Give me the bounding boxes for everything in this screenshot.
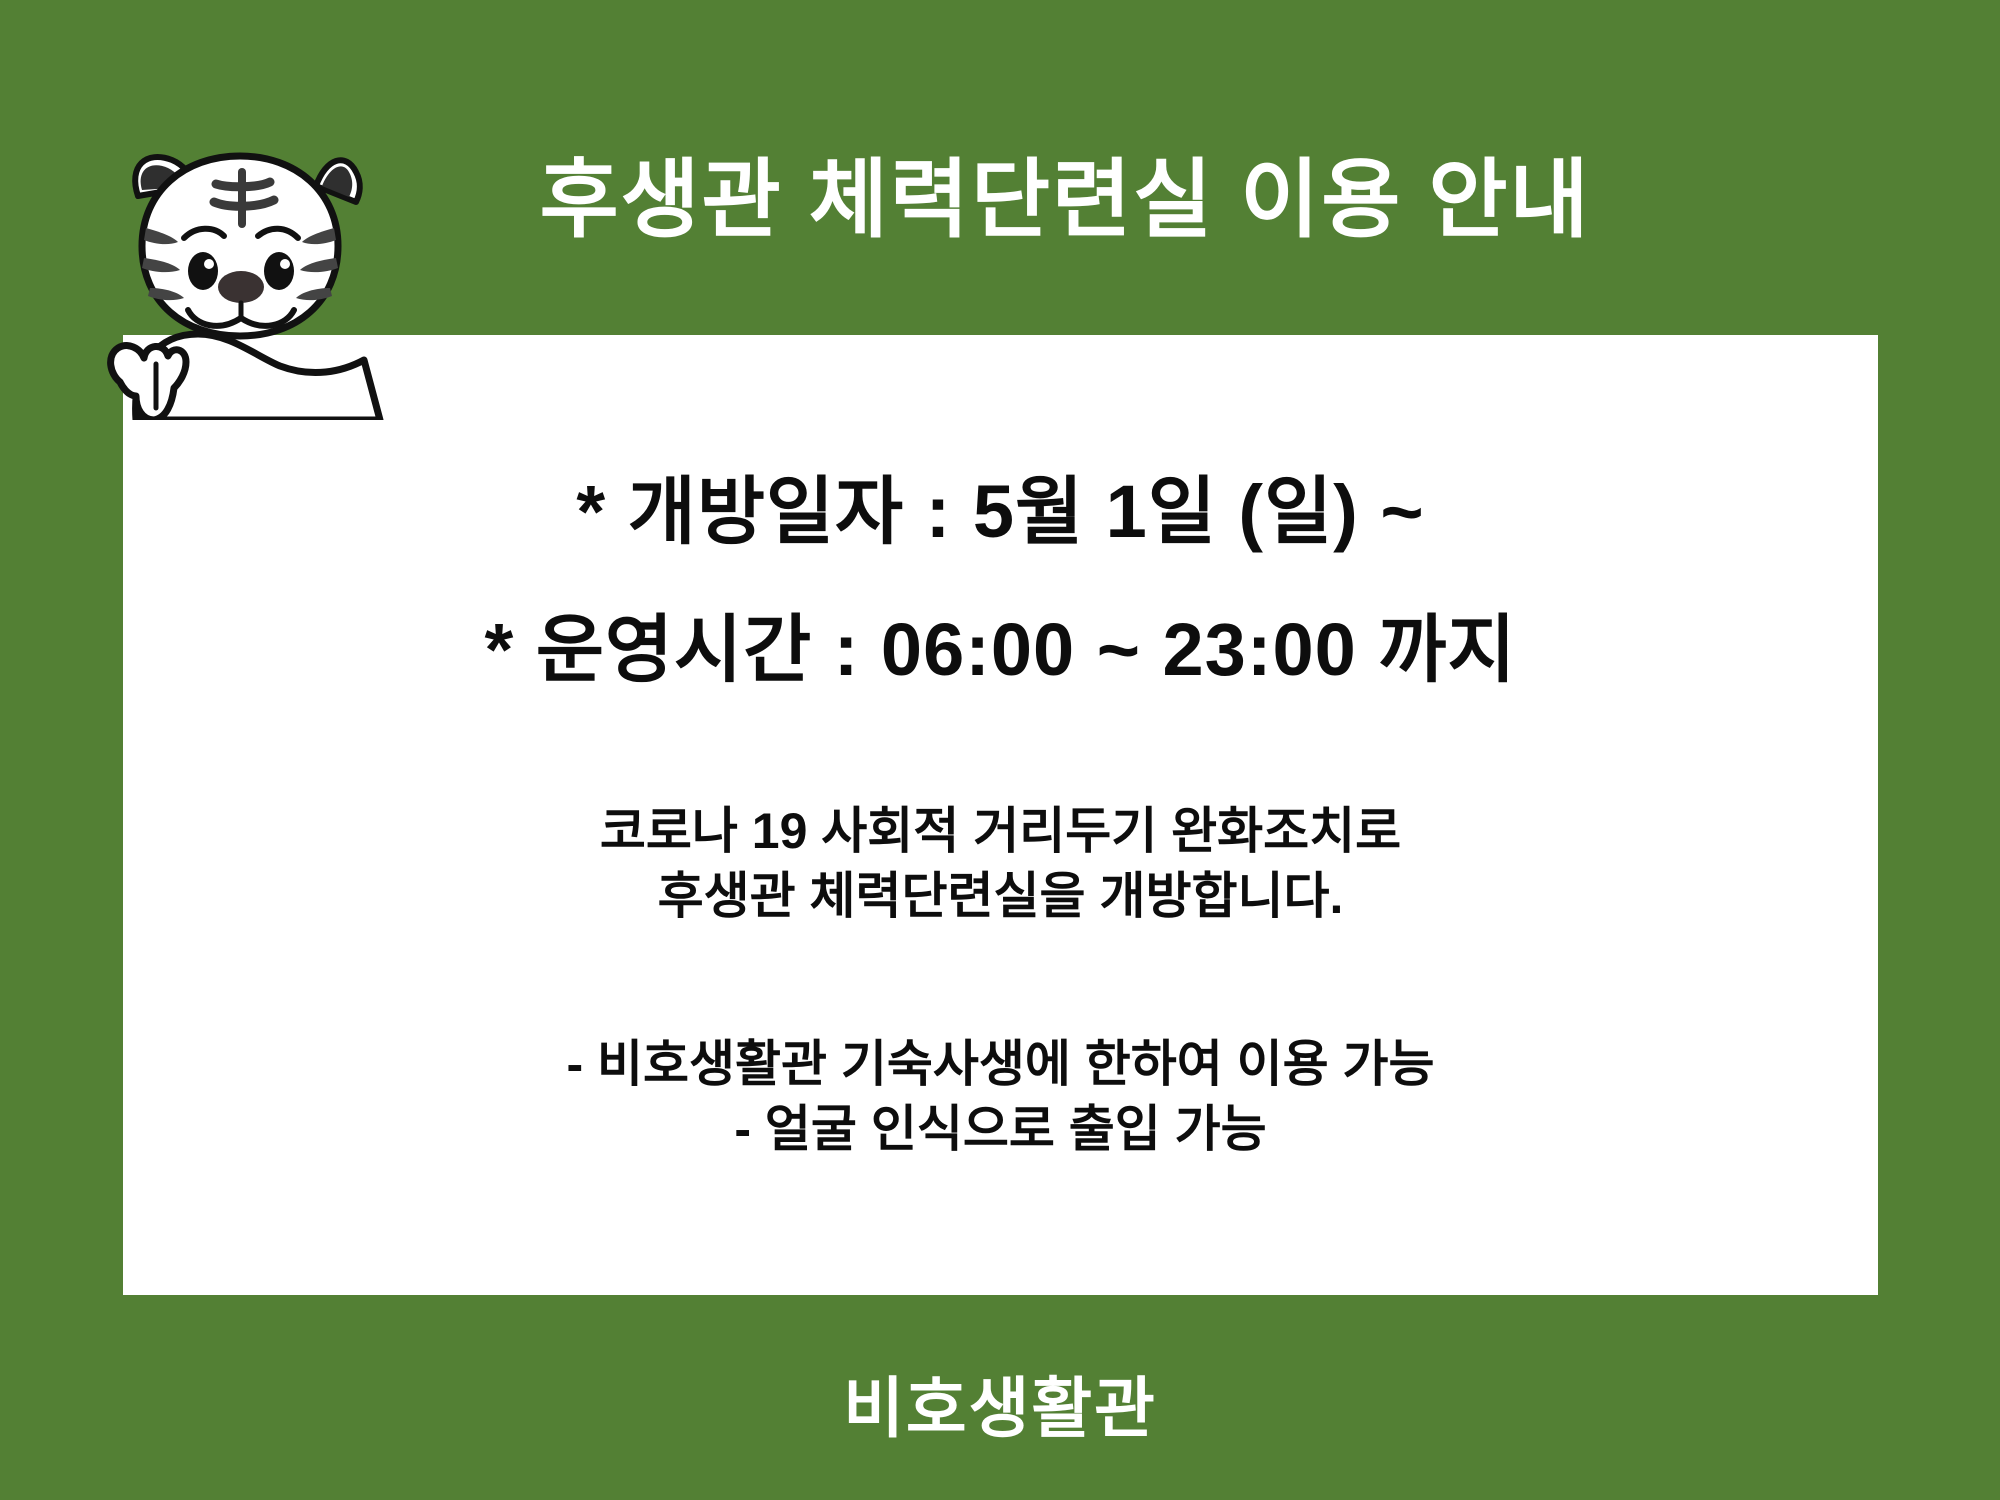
poster-root: 후생관 체력단련실 이용 안내 bbox=[0, 0, 2000, 1500]
paragraph-line-2: 후생관 체력단련실을 개방합니다. bbox=[123, 867, 1878, 926]
footer-organization: 비호생활관 bbox=[0, 1355, 2000, 1451]
notice-card: * 개방일자 : 5월 1일 (일) ~ * 운영시간 : 06:00 ~ 23… bbox=[123, 335, 1878, 1295]
open-date-line: * 개방일자 : 5월 1일 (일) ~ bbox=[123, 475, 1878, 549]
operating-hours-line: * 운영시간 : 06:00 ~ 23:00 까지 bbox=[123, 613, 1878, 687]
bullet-line-2: - 얼굴 인식으로 출입 가능 bbox=[123, 1100, 1878, 1159]
paragraph-line-1: 코로나 19 사회적 거리두기 완화조치로 bbox=[123, 802, 1878, 861]
bullet-line-1: - 비호생활관 기숙사생에 한하여 이용 가능 bbox=[123, 1035, 1878, 1094]
white-tiger-mascot-icon bbox=[80, 120, 400, 420]
